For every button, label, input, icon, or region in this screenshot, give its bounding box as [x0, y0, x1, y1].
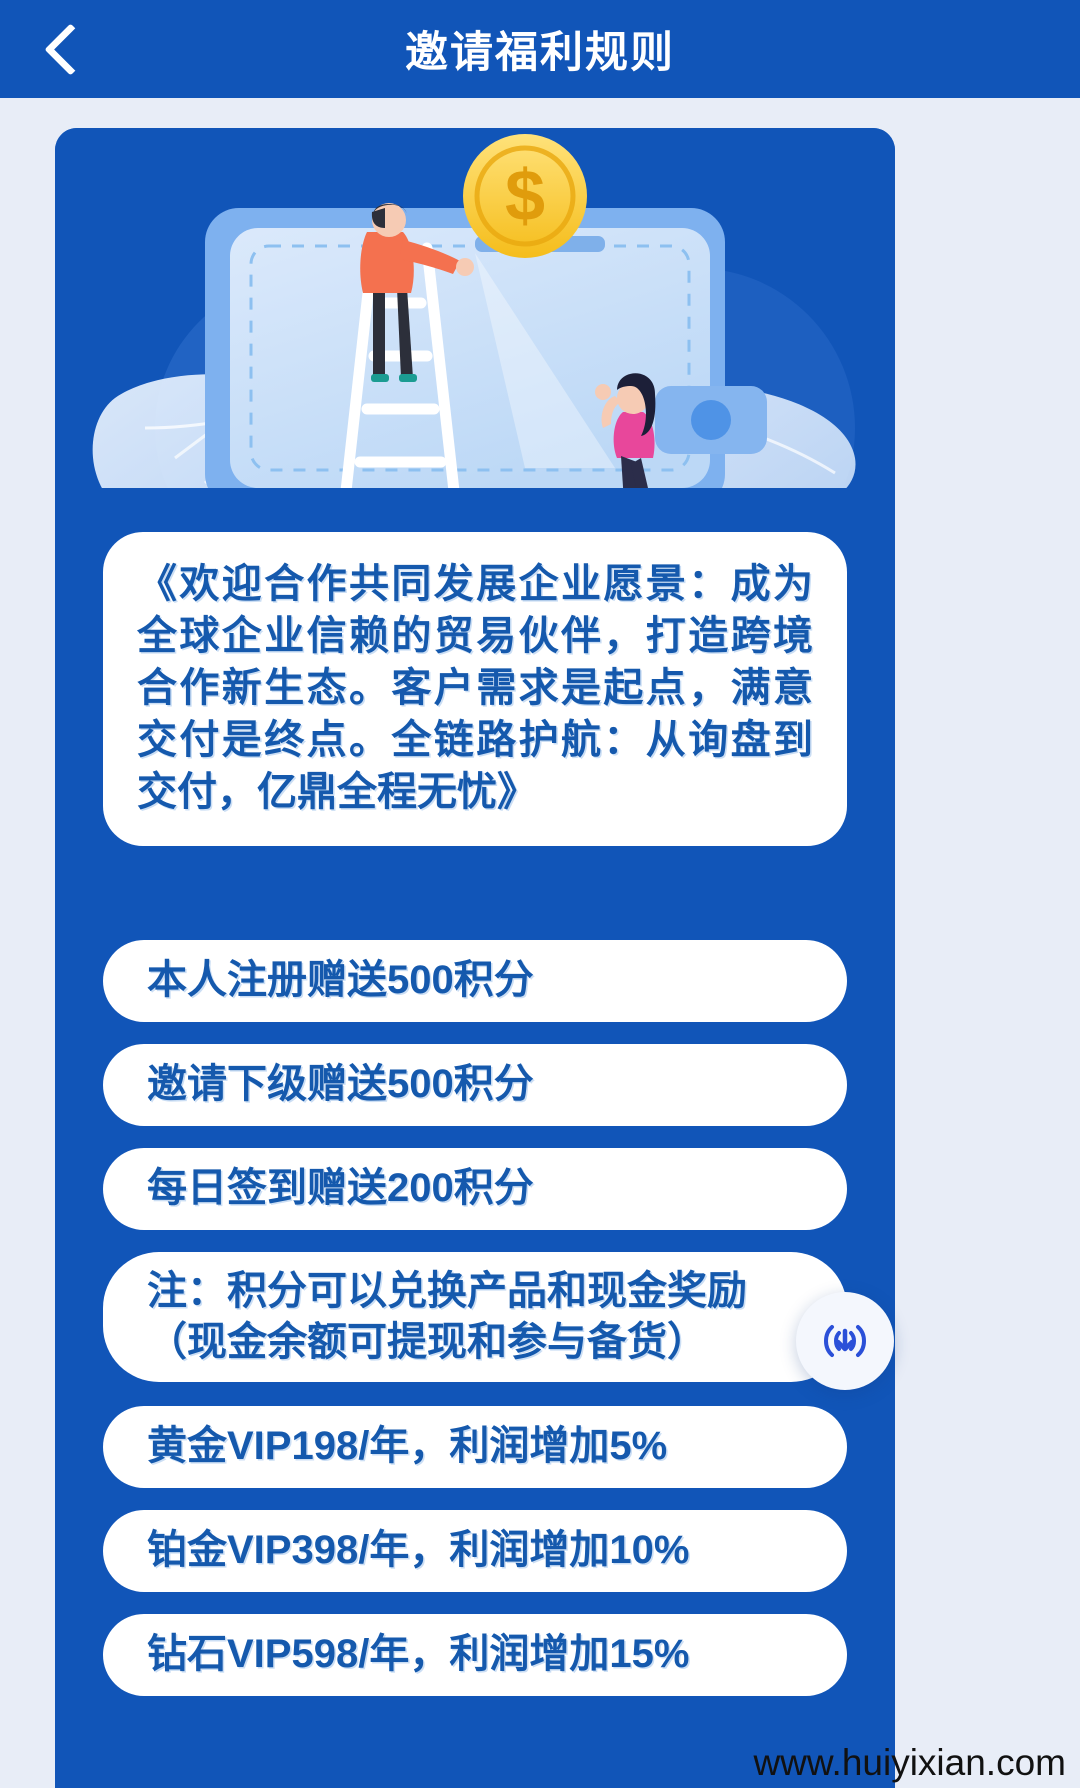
- site-watermark: www.huiyixian.com: [753, 1742, 1066, 1784]
- rules-card: $: [55, 128, 895, 1788]
- broadcast-download-icon: [814, 1310, 876, 1372]
- rule-label: 本人注册赠送500积分: [147, 955, 534, 1006]
- svg-text:$: $: [505, 156, 545, 236]
- rule-label: 每日签到赠送200积分: [147, 1163, 534, 1214]
- rule-pill-platinum-vip[interactable]: 铂金VIP398/年，利润增加10%: [103, 1510, 847, 1592]
- rule-label: 注：积分可以兑换产品和现金奖励 （现金余额可提现和参与备货）: [147, 1266, 747, 1368]
- vision-block: 《欢迎合作共同发展企业愿景：成为全球企业信赖的贸易伙伴，打造跨境合作新生态。客户…: [103, 532, 847, 846]
- rule-pill-diamond-vip[interactable]: 钻石VIP598/年，利润增加15%: [103, 1614, 847, 1696]
- rule-pill-self-register[interactable]: 本人注册赠送500积分: [103, 940, 847, 1022]
- rule-pill-daily-checkin[interactable]: 每日签到赠送200积分: [103, 1148, 847, 1230]
- rule-pill-gold-vip[interactable]: 黄金VIP198/年，利润增加5%: [103, 1406, 847, 1488]
- rule-pill-points-note[interactable]: 注：积分可以兑换产品和现金奖励 （现金余额可提现和参与备货）: [103, 1252, 847, 1382]
- page-title: 邀请福利规则: [405, 18, 675, 80]
- rule-label: 黄金VIP198/年，利润增加5%: [147, 1421, 667, 1472]
- vision-text: 《欢迎合作共同发展企业愿景：成为全球企业信赖的贸易伙伴，打造跨境合作新生态。客户…: [137, 558, 813, 818]
- rule-pill-invite-downline[interactable]: 邀请下级赠送500积分: [103, 1044, 847, 1126]
- chevron-left-icon: [44, 23, 96, 75]
- rule-label: 钻石VIP598/年，利润增加15%: [147, 1629, 689, 1680]
- rule-label: 铂金VIP398/年，利润增加10%: [147, 1525, 689, 1576]
- broadcast-download-fab[interactable]: [796, 1292, 894, 1390]
- back-button[interactable]: [28, 0, 112, 98]
- app-header: 邀请福利规则: [0, 0, 1080, 98]
- illustration-svg: $: [55, 128, 895, 518]
- rule-label: 邀请下级赠送500积分: [147, 1059, 534, 1110]
- invite-reward-illustration: $: [55, 128, 895, 518]
- invite-rules-screen: 邀请福利规则: [0, 0, 1080, 1788]
